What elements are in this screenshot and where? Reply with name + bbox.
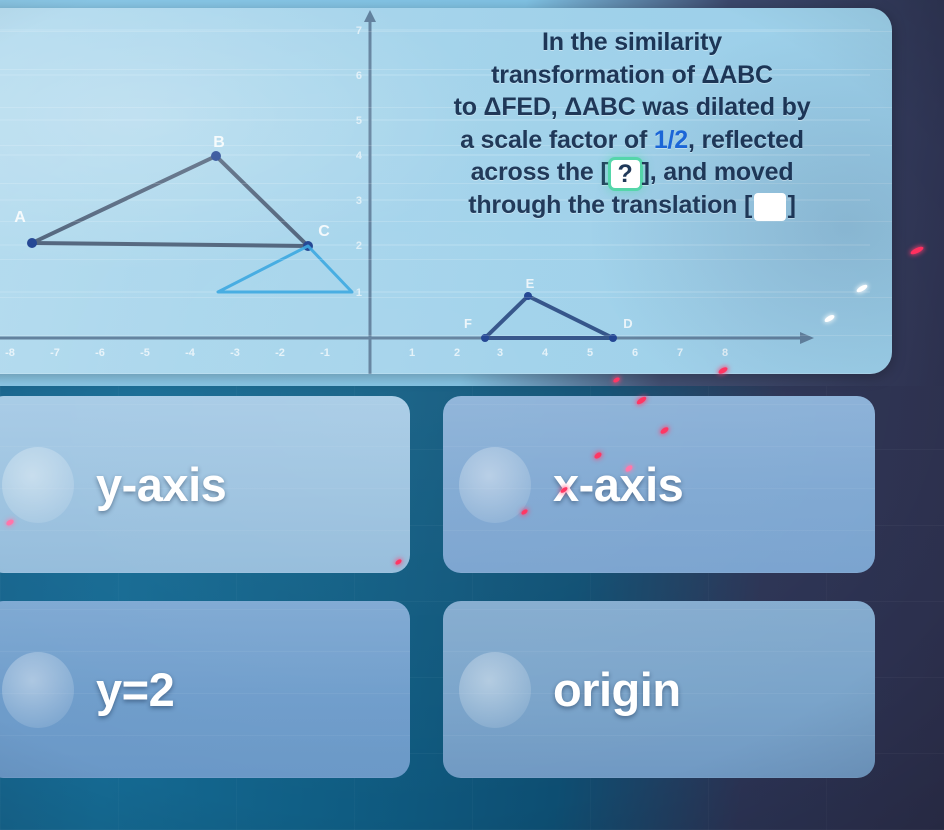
y-tick: 7: [356, 25, 362, 37]
answer-options-grid: y-axis x-axis y=2 origin: [0, 396, 944, 806]
answer-row-1: y-axis x-axis: [0, 396, 944, 573]
answer-option-label: y=2: [96, 662, 174, 717]
x-tick: 4: [542, 347, 549, 359]
bracket-open-2: [: [744, 191, 752, 219]
x-tick: 6: [632, 347, 638, 359]
answer-row-2: y=2 origin: [0, 601, 944, 778]
scale-factor-value: 1/2: [654, 126, 688, 154]
triangle-abc-mention-2: ΔABC: [564, 93, 635, 121]
bracket-close-2: ]: [788, 191, 796, 219]
x-tick: 7: [677, 347, 683, 359]
question-line-1-text: In the similarity: [542, 28, 722, 56]
vertex-f-label: F: [464, 316, 472, 331]
question-line-6: through the translation [ ]: [408, 189, 856, 222]
triangle-abc: [32, 156, 308, 246]
vertex-a-label: A: [14, 209, 26, 226]
x-tick: -3: [230, 347, 240, 359]
question-line-3: to ΔFED, ΔABC was dilated by: [408, 91, 856, 124]
x-tick: -6: [95, 347, 105, 359]
translation-blank[interactable]: [754, 193, 786, 221]
bracket-open-1: [: [600, 158, 608, 186]
vertex-e-label: E: [526, 276, 535, 291]
y-tick: 5: [356, 115, 362, 127]
answer-option-y-equals-2[interactable]: y=2: [0, 601, 410, 778]
vertex-f-point: [481, 334, 489, 342]
x-tick: -1: [320, 347, 330, 359]
question-line-6-text-a: through the translation: [468, 191, 744, 219]
question-card: -8 -7 -6 -5 -4 -3 -2 -1 1 2 3 4 5 6 7 8: [0, 8, 892, 374]
question-line-4-text-a: a scale factor of: [460, 126, 654, 154]
question-line-2-text-a: transformation of: [491, 61, 701, 89]
question-line-1: In the similarity: [408, 26, 856, 59]
question-line-5-text-b: , and moved: [650, 158, 794, 186]
x-tick: 8: [722, 347, 728, 359]
x-tick: -5: [140, 347, 150, 359]
triangle-abc-mention-1: ΔABC: [701, 61, 772, 89]
y-tick: 3: [356, 195, 362, 207]
answer-blank-highlighted[interactable]: ?: [611, 160, 640, 188]
radio-icon[interactable]: [459, 652, 531, 728]
radio-icon[interactable]: [459, 447, 531, 523]
question-line-2: transformation of ΔABC: [408, 59, 856, 92]
vertex-a-point: [27, 238, 37, 248]
vertex-b-point: [211, 151, 221, 161]
answer-option-label: origin: [553, 662, 681, 717]
radio-icon[interactable]: [2, 447, 74, 523]
question-line-5: across the [?], and moved: [408, 156, 856, 189]
vertex-e-point: [524, 292, 532, 300]
x-tick: -8: [5, 347, 15, 359]
x-tick: 1: [409, 347, 415, 359]
y-tick: 4: [356, 150, 363, 162]
y-tick: 1: [356, 287, 362, 299]
answer-option-y-axis[interactable]: y-axis: [0, 396, 410, 573]
question-line-3-comma: ,: [551, 93, 565, 121]
triangle-fed: [485, 296, 613, 338]
question-line-4-text-b: , reflected: [688, 126, 804, 154]
quiz-screen: -8 -7 -6 -5 -4 -3 -2 -1 1 2 3 4 5 6 7 8: [0, 0, 944, 830]
x-tick: -2: [275, 347, 285, 359]
answer-option-origin[interactable]: origin: [443, 601, 875, 778]
answer-option-label: x-axis: [553, 457, 683, 512]
radio-icon[interactable]: [2, 652, 74, 728]
question-line-3-text-b: was dilated by: [636, 93, 811, 121]
triangle-dilated-image: [218, 246, 352, 292]
x-tick: 2: [454, 347, 460, 359]
x-tick-labels: -8 -7 -6 -5 -4 -3 -2 -1 1 2 3 4 5 6 7 8: [5, 347, 728, 359]
vertex-d-label: D: [623, 316, 632, 331]
question-line-5-text-a: across the: [471, 158, 601, 186]
x-axis-arrow: [800, 332, 814, 344]
question-line-4: a scale factor of 1/2, reflected: [408, 124, 856, 157]
y-tick: 6: [356, 70, 362, 82]
answer-option-x-axis[interactable]: x-axis: [443, 396, 875, 573]
bracket-close-1: ]: [642, 158, 650, 186]
vertex-b-label: B: [213, 134, 225, 151]
y-tick: 2: [356, 240, 362, 252]
y-axis-arrow: [364, 10, 376, 22]
answer-option-label: y-axis: [96, 457, 226, 512]
question-text: In the similarity transformation of ΔABC…: [408, 26, 856, 221]
x-tick: 3: [497, 347, 503, 359]
vertex-d-point: [609, 334, 617, 342]
vertex-c-label: C: [318, 223, 330, 240]
y-tick-labels: 7 6 5 4 3 2 1: [356, 25, 363, 299]
triangle-fed-mention: ΔFED: [484, 93, 551, 121]
question-line-3-text-a: to: [454, 93, 484, 121]
x-tick: -7: [50, 347, 60, 359]
x-tick: 5: [587, 347, 593, 359]
x-tick: -4: [185, 347, 196, 359]
